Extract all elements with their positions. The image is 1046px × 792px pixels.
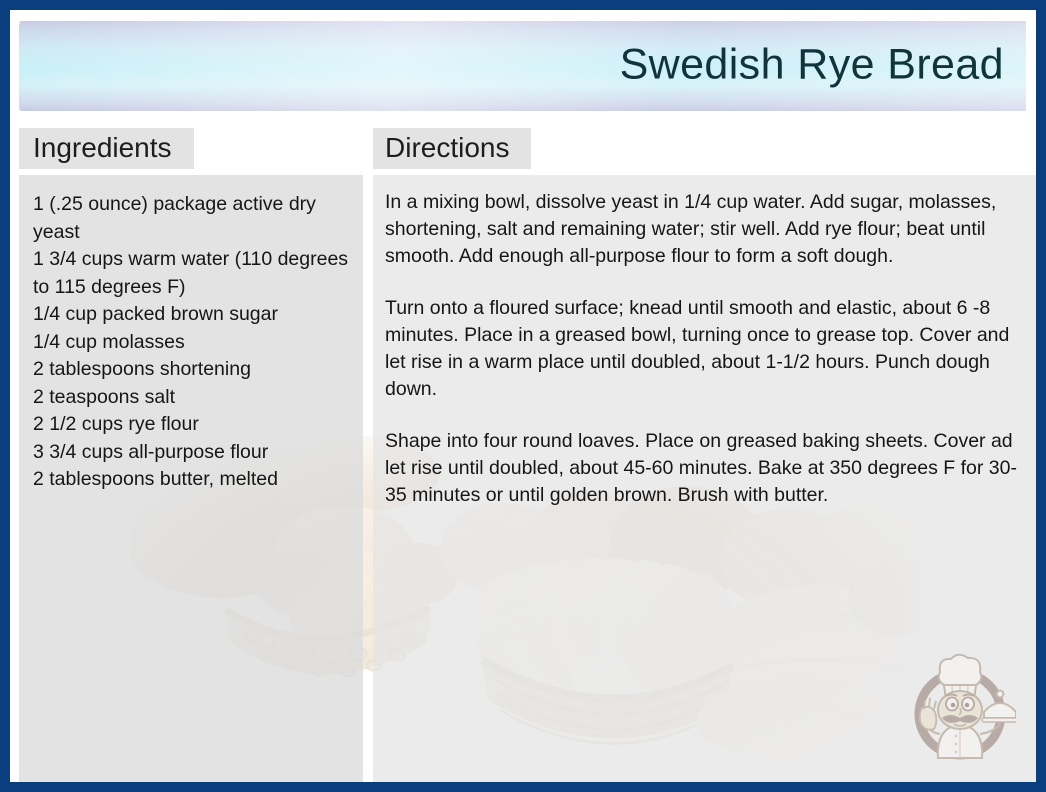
ingredients-list: 1 (.25 ounce) package active dry yeast 1…: [19, 169, 363, 494]
list-item: 3 3/4 cups all-purpose flour: [33, 439, 349, 467]
list-item: 1 3/4 cups warm water (110 degrees to 11…: [33, 246, 349, 301]
direction-step: Shape into four round loaves. Place on g…: [385, 428, 1018, 509]
list-item: 2 teaspoons salt: [33, 384, 349, 412]
list-item: 1/4 cup molasses: [33, 329, 349, 357]
list-item: 2 tablespoons shortening: [33, 356, 349, 384]
page-title: Swedish Rye Bread: [620, 44, 1004, 87]
directions-column: Directions In a mixing bowl, dissolve ye…: [373, 128, 1036, 782]
list-item: 1 (.25 ounce) package active dry yeast: [33, 191, 349, 246]
content-columns: Ingredients 1 (.25 ounce) package active…: [19, 128, 1027, 782]
ingredients-column: Ingredients 1 (.25 ounce) package active…: [19, 128, 363, 782]
list-item: 1/4 cup packed brown sugar: [33, 301, 349, 329]
header-banner: Swedish Rye Bread: [19, 21, 1026, 111]
list-item: 2 1/2 cups rye flour: [33, 411, 349, 439]
card-inner: Swedish Rye Bread: [10, 10, 1036, 782]
ingredients-heading: Ingredients: [19, 128, 194, 169]
direction-step: In a mixing bowl, dissolve yeast in 1/4 …: [385, 189, 1018, 270]
directions-steps: In a mixing bowl, dissolve yeast in 1/4 …: [373, 169, 1036, 509]
recipe-card: Swedish Rye Bread: [0, 0, 1046, 792]
direction-step: Turn onto a floured surface; knead until…: [385, 295, 1018, 403]
list-item: 2 tablespoons butter, melted: [33, 466, 349, 494]
directions-heading: Directions: [373, 128, 531, 169]
